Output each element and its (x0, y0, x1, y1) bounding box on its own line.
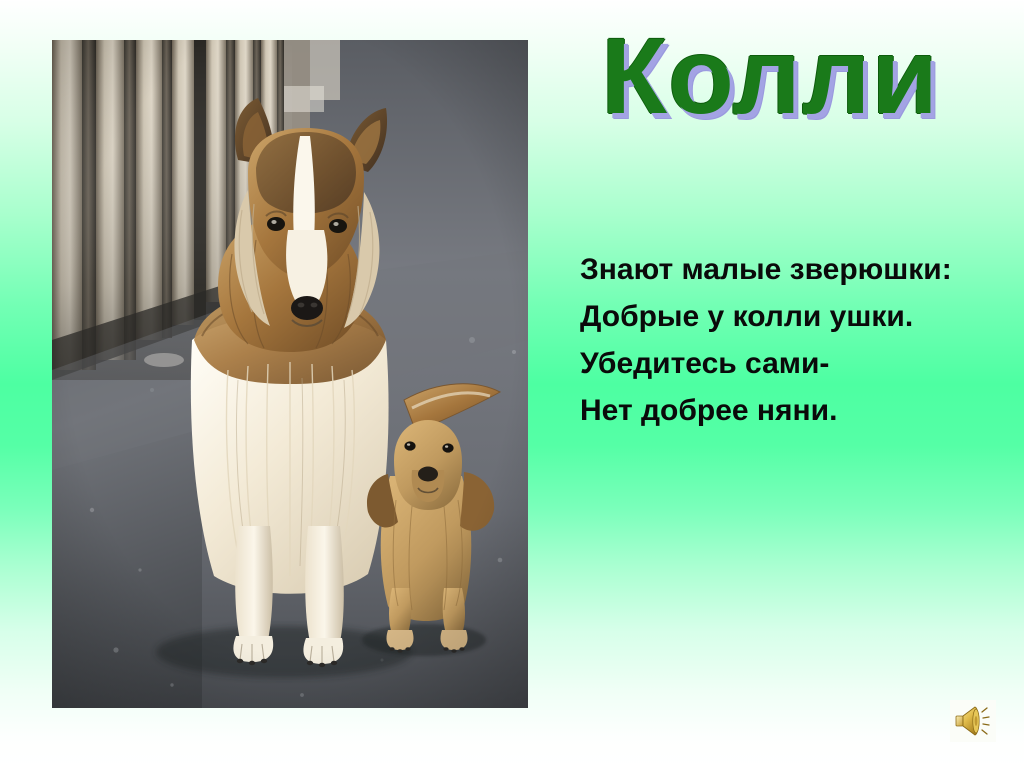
presentation-slide: Колли Знают малые зверюшки: Добрые у кол… (0, 0, 1024, 768)
speaker-icon[interactable] (953, 704, 993, 738)
poem-line-2: Добрые у колли ушки. (580, 293, 1000, 340)
poem-line-4: Нет добрее няни. (580, 387, 1000, 434)
poem-text-block: Знают малые зверюшки: Добрые у колли ушк… (580, 246, 1000, 434)
poem-line-3: Убедитесь сами- (580, 340, 1000, 387)
photo-illustration (52, 40, 528, 708)
sound-button[interactable] (950, 700, 996, 742)
slide-title: Колли (560, 14, 980, 138)
collie-photo (52, 40, 528, 708)
poem-line-1: Знают малые зверюшки: (580, 246, 1000, 293)
title-wordart-text: Колли (601, 22, 939, 130)
